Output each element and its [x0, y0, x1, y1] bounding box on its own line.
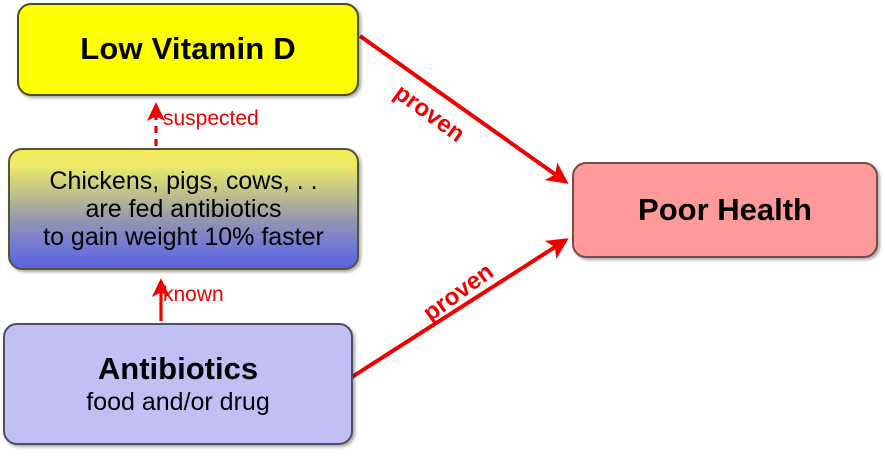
- node-livestock-line-3: to gain weight 10% faster: [43, 223, 324, 251]
- diagram-canvas: Low Vitamin D Chickens, pigs, cows, . . …: [0, 0, 884, 452]
- node-poor-health-label: Poor Health: [638, 193, 812, 228]
- node-low-vitamin-d-label: Low Vitamin D: [80, 32, 296, 67]
- node-livestock-line-2: are fed antibiotics: [86, 195, 282, 223]
- node-antibiotics-sublabel: food and/or drug: [86, 388, 269, 416]
- node-livestock-line-1: Chickens, pigs, cows, . .: [49, 167, 317, 195]
- node-antibiotics-label: Antibiotics: [98, 352, 258, 387]
- edge-label-known: known: [163, 283, 224, 307]
- edge-label-proven-bottom: proven: [418, 258, 499, 328]
- edge-label-suspected: suspected: [163, 107, 259, 131]
- node-poor-health[interactable]: Poor Health: [572, 162, 878, 258]
- node-low-vitamin-d[interactable]: Low Vitamin D: [17, 3, 359, 96]
- node-livestock[interactable]: Chickens, pigs, cows, . . are fed antibi…: [8, 148, 359, 270]
- edge-proven-top-arrow: [360, 36, 566, 182]
- node-antibiotics[interactable]: Antibiotics food and/or drug: [3, 323, 353, 445]
- edge-label-proven-top: proven: [389, 79, 470, 149]
